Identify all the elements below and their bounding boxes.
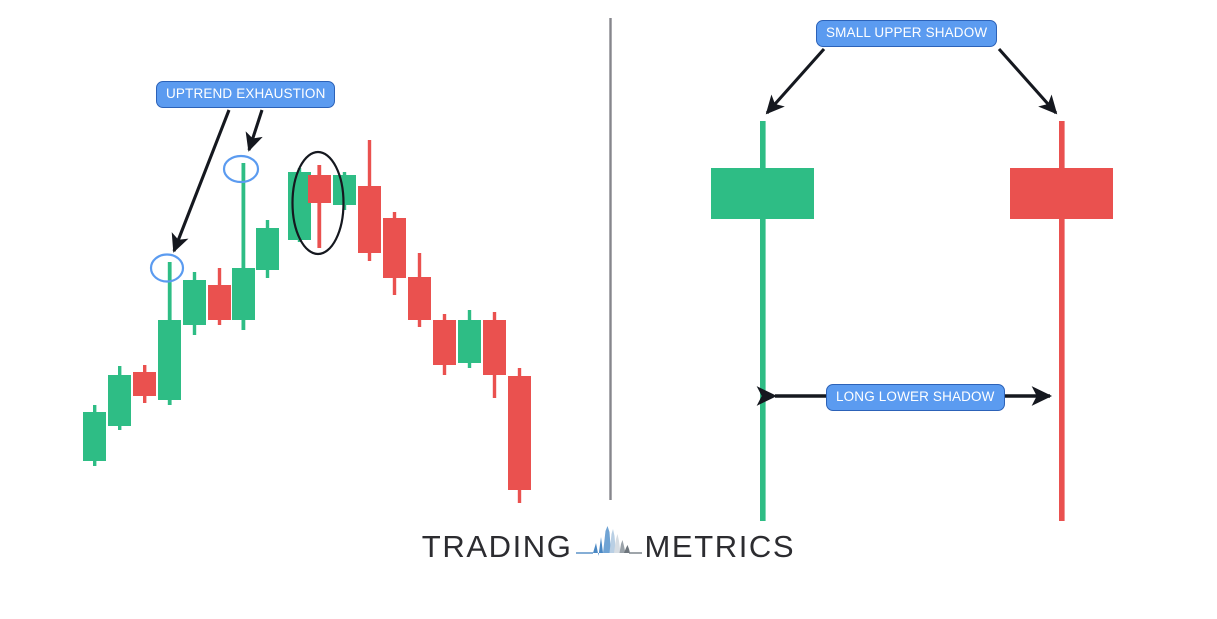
label-uptrend-exhaustion: UPTREND EXHAUSTION bbox=[156, 81, 335, 108]
brand-word-trading: TRADING bbox=[422, 531, 573, 562]
candle-7 bbox=[232, 163, 255, 330]
candle-4 bbox=[158, 262, 181, 405]
label-long-lower-shadow: LONG LOWER SHADOW bbox=[826, 384, 1005, 411]
arrow-to-bear-upper-shadow bbox=[999, 49, 1056, 113]
candle-2 bbox=[108, 366, 131, 430]
candle-10-hanging-man bbox=[308, 165, 331, 248]
brand-word-metrics: METRICS bbox=[645, 531, 796, 562]
blue-ellipse-left bbox=[151, 255, 183, 282]
waveform-pulse-icon bbox=[576, 525, 642, 567]
candle-13 bbox=[383, 212, 406, 295]
candle-5 bbox=[183, 272, 206, 335]
candle-14 bbox=[408, 253, 431, 327]
candle-1 bbox=[83, 405, 106, 466]
arrow-to-bull-upper-shadow bbox=[767, 49, 824, 113]
candle-12 bbox=[358, 140, 381, 261]
arrow-to-left-ellipse bbox=[174, 110, 229, 251]
candle-18 bbox=[508, 368, 531, 503]
candle-6 bbox=[208, 268, 231, 325]
price-action-panel bbox=[83, 110, 531, 503]
bullish-hanging-man-candle bbox=[711, 121, 814, 521]
candle-8 bbox=[256, 220, 279, 278]
candle-17 bbox=[483, 312, 506, 398]
candle-3 bbox=[133, 365, 156, 403]
label-small-upper-shadow: SMALL UPPER SHADOW bbox=[816, 20, 997, 47]
blue-ellipse-right bbox=[224, 156, 258, 182]
infographic-canvas: UPTREND EXHAUSTION SMALL UPPER SHADOW LO… bbox=[0, 0, 1217, 619]
arrow-to-right-ellipse bbox=[249, 110, 262, 150]
brand-logo: TRADING METRICS bbox=[0, 521, 1217, 571]
candle-15 bbox=[433, 314, 456, 375]
hanging-man-anatomy-panel bbox=[711, 49, 1113, 521]
candle-16 bbox=[458, 310, 481, 368]
bearish-hanging-man-candle bbox=[1010, 121, 1113, 521]
